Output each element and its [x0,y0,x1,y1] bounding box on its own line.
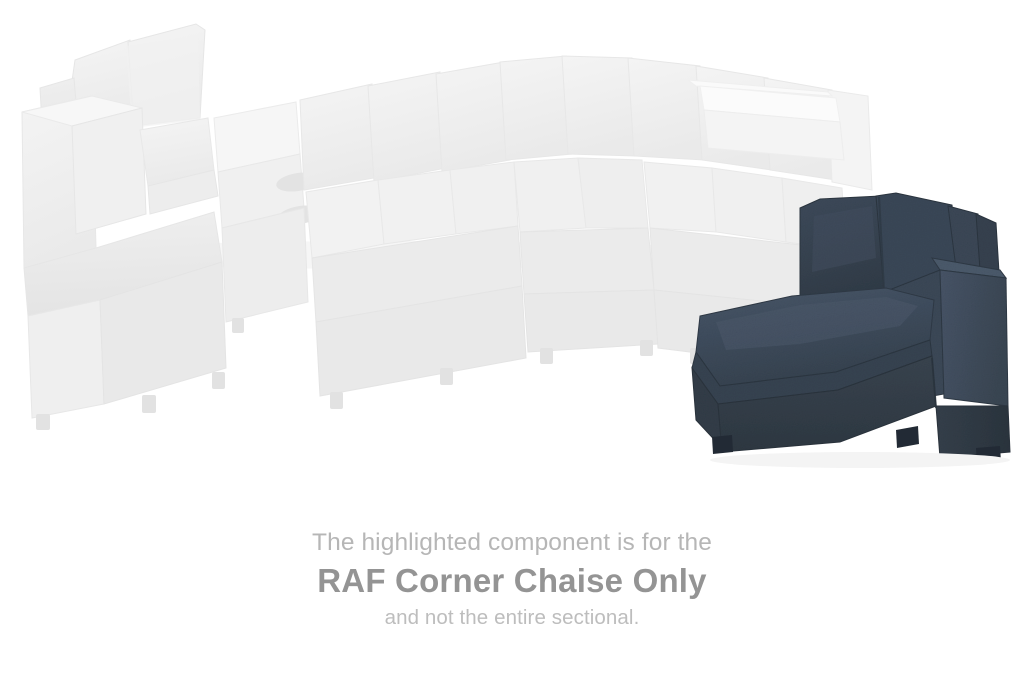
chaise-leg-front-right[interactable] [896,426,919,448]
caption-block: The highlighted component is for the RAF… [0,528,1024,631]
ghost-leg [36,414,50,430]
component-name-headline: RAF Corner Chaise Only [0,560,1024,602]
caption-line-primary: The highlighted component is for the [0,528,1024,558]
ghost-leg [232,318,244,333]
chaise-back-frame-2 [976,214,999,272]
ghost-leg [440,368,453,385]
ghost-leg [540,348,553,364]
product-image-canvas: The highlighted component is for the RAF… [0,0,1024,683]
ghost-leg [640,340,653,356]
sectional-sofa-illustration [0,0,1024,500]
caption-line-secondary: and not the entire sectional. [0,605,1024,631]
ghost-module-laf-armchair [22,24,226,430]
chaise-right-arm-outer [940,270,1008,406]
ghost-leg [212,372,225,389]
ghost-leg [330,392,343,409]
chaise-floor-shadow [710,452,1010,468]
ghost-leg [142,395,156,413]
ghost-module-armless-left [300,62,526,409]
chaise-leg-front-left[interactable] [712,435,733,454]
